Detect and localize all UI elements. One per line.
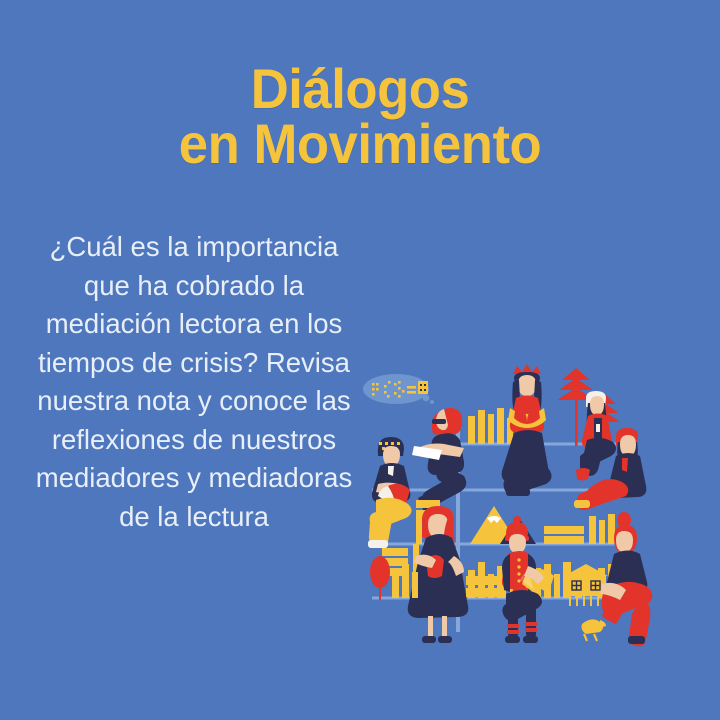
illustration bbox=[358, 348, 704, 648]
page-title: Diálogos en Movimiento bbox=[22, 62, 699, 172]
body-text: ¿Cuál es la importancia que ha cobrado l… bbox=[26, 228, 362, 536]
tree-round-red bbox=[370, 556, 390, 600]
title-line-2: en Movimiento bbox=[22, 117, 699, 172]
bird-icon bbox=[582, 619, 607, 641]
book-row-shelf2-right bbox=[544, 514, 615, 544]
person-beanie-reading bbox=[368, 437, 412, 548]
person-seated-right-upper bbox=[576, 391, 616, 481]
poster-canvas: Diálogos en Movimiento ¿Cuál es la impor… bbox=[0, 0, 720, 720]
person-bun-sitting-red-pants bbox=[600, 512, 652, 646]
thought-bubble-icon bbox=[363, 374, 434, 404]
title-line-1: Diálogos bbox=[22, 62, 699, 117]
